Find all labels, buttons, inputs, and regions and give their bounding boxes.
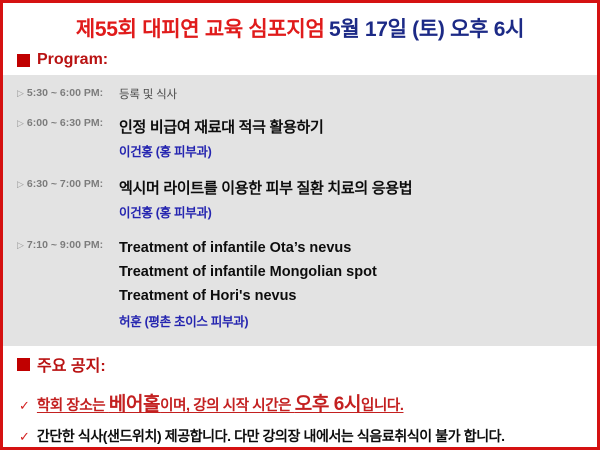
program-row-time: ▷6:30 ~ 7:00 PM: [3, 175, 119, 190]
title-main-text: 제55회 대피연 교육 심포지엄 [76, 18, 325, 41]
program-row-body: 엑시머 라이트를 이용한 피부 질환 치료의 응용법이건홍 (홍 피부과) [119, 175, 597, 226]
title-date-text: 5월 17일 (토) 오후 6시 [329, 18, 524, 41]
notice-item: ✓학회 장소는 베어홀이며, 강의 시작 시간은 오후 6시입니다. [3, 384, 597, 421]
notice-emphasis: 오후 6시 [295, 394, 361, 415]
triangle-right-icon: ▷ [17, 88, 24, 98]
program-row-time: ▷7:10 ~ 9:00 PM: [3, 236, 119, 251]
program-row: ▷7:10 ~ 9:00 PM:Treatment of infantile O… [3, 235, 597, 336]
notice-heading: 주요 공지: [3, 346, 597, 382]
program-speaker: 이건홍 (홍 피부과) [119, 138, 597, 165]
notice-list: ✓학회 장소는 베어홀이며, 강의 시작 시간은 오후 6시입니다.✓간단한 식… [3, 382, 597, 450]
notice-fragment: 입니다. [361, 398, 403, 414]
program-activity: 등록 및 식사 [119, 84, 597, 104]
triangle-right-icon: ▷ [17, 118, 24, 128]
program-heading-label: Program: [37, 51, 108, 69]
notice-fragment: 학회 장소는 [37, 398, 109, 414]
program-lecture-title: Treatment of Hori's nevus [119, 284, 597, 308]
notice-fragment: 간단한 식사(샌드위치) 제공합니다. 다만 강의장 내에서는 식음료취식이 불… [37, 428, 505, 444]
program-row-body: 등록 및 식사 [119, 84, 597, 104]
red-square-bullet-icon [17, 358, 30, 371]
notice-fragment: 이며, 강의 시작 시간은 [160, 398, 295, 414]
program-row-body: Treatment of infantile Ota’s nevusTreatm… [119, 236, 597, 335]
program-row: ▷6:30 ~ 7:00 PM:엑시머 라이트를 이용한 피부 질환 치료의 응… [3, 174, 597, 227]
program-row-body: 인정 비급여 재료대 적극 활용하기이건홍 (홍 피부과) [119, 114, 597, 165]
program-schedule: ▷5:30 ~ 6:00 PM:등록 및 식사▷6:00 ~ 6:30 PM:인… [3, 75, 597, 346]
program-lecture-title: 인정 비급여 재료대 적극 활용하기 [119, 114, 597, 138]
check-mark-icon: ✓ [19, 429, 30, 445]
page-title: 제55회 대피연 교육 심포지엄 5월 17일 (토) 오후 6시 [3, 3, 597, 45]
symposium-flyer: 제55회 대피연 교육 심포지엄 5월 17일 (토) 오후 6시 Progra… [0, 0, 600, 450]
program-lecture-title: Treatment of infantile Ota’s nevus [119, 236, 597, 260]
program-row-time: ▷6:00 ~ 6:30 PM: [3, 114, 119, 129]
program-time-label: 5:30 ~ 6:00 PM: [27, 87, 103, 99]
notice-emphasis: 베어홀 [109, 394, 160, 415]
program-lecture-title: 엑시머 라이트를 이용한 피부 질환 치료의 응용법 [119, 175, 597, 199]
row-spacer [3, 227, 597, 235]
program-time-label: 6:00 ~ 6:30 PM: [27, 117, 103, 129]
program-lecture-title: Treatment of infantile Mongolian spot [119, 260, 597, 284]
notice-text: 간단한 식사(샌드위치) 제공합니다. 다만 강의장 내에서는 식음료취식이 불… [37, 426, 505, 446]
notice-text: 학회 장소는 베어홀이며, 강의 시작 시간은 오후 6시입니다. [37, 389, 404, 416]
triangle-right-icon: ▷ [17, 240, 24, 250]
program-row-time: ▷5:30 ~ 6:00 PM: [3, 84, 119, 99]
notice-item: ✓간단한 식사(샌드위치) 제공합니다. 다만 강의장 내에서는 식음료취식이 … [3, 421, 597, 450]
check-mark-icon: ✓ [19, 398, 30, 414]
program-heading: Program: [3, 45, 597, 75]
red-square-bullet-icon [17, 54, 30, 67]
program-time-label: 6:30 ~ 7:00 PM: [27, 178, 103, 190]
triangle-right-icon: ▷ [17, 179, 24, 189]
program-speaker: 허훈 (평촌 초이스 피부과) [119, 308, 597, 335]
row-spacer [3, 105, 597, 113]
row-spacer [3, 166, 597, 174]
program-row: ▷5:30 ~ 6:00 PM:등록 및 식사 [3, 83, 597, 105]
program-speaker: 이건홍 (홍 피부과) [119, 199, 597, 226]
program-row: ▷6:00 ~ 6:30 PM:인정 비급여 재료대 적극 활용하기이건홍 (홍… [3, 113, 597, 166]
notice-heading-label: 주요 공지: [37, 352, 106, 376]
program-time-label: 7:10 ~ 9:00 PM: [27, 239, 103, 251]
